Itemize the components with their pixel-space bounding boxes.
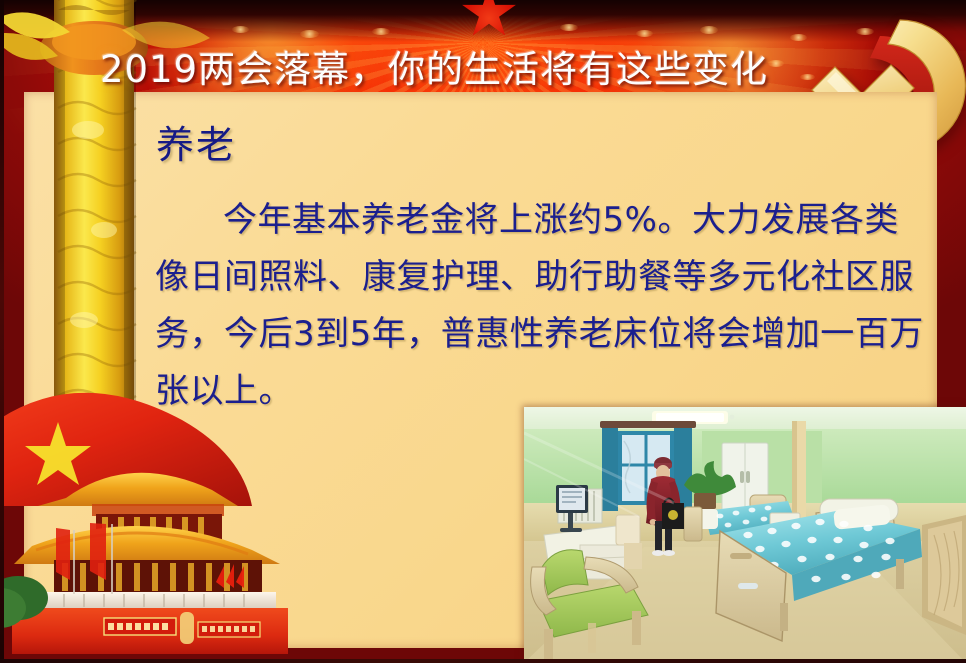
- page-title: 2019两会落幕，你的生活将有这些变化: [100, 44, 768, 96]
- title-bar: 2019两会落幕，你的生活将有这些变化: [0, 44, 966, 96]
- nursing-home-room-photo: [524, 407, 966, 663]
- left-edge-rule: [0, 0, 4, 663]
- section-heading: 养老: [156, 126, 236, 164]
- slide-root: 2019两会落幕，你的生活将有这些变化 养老 今年基本养老金将上涨约5%。大力发…: [0, 0, 966, 663]
- body-paragraph: 今年基本养老金将上涨约5%。大力发展各类像日间照料、康复护理、助行助餐等多元化社…: [155, 192, 925, 420]
- bottom-edge-rule: [0, 659, 966, 663]
- body-text: 今年基本养老金将上涨约5%。大力发展各类像日间照料、康复护理、助行助餐等多元化社…: [155, 192, 925, 420]
